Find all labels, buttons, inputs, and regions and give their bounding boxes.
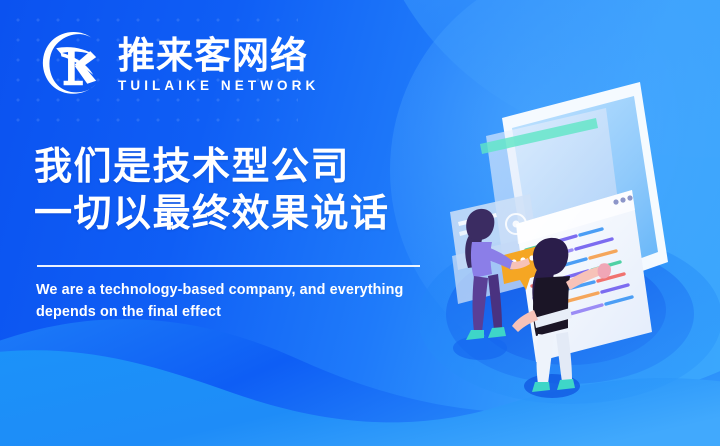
headline-line-1: 我们是技术型公司 [34, 143, 390, 190]
tuilaike-circle-k-logo-icon [34, 26, 108, 100]
isometric-monitor-with-two-people-illustration [420, 56, 720, 406]
subheadline: We are a technology-based company, and e… [36, 279, 456, 323]
headline: 我们是技术型公司 一切以最终效果说话 [34, 143, 390, 237]
brand-name-en: TUILAIKE NETWORK [118, 78, 319, 93]
headline-line-2: 一切以最终效果说话 [34, 190, 390, 237]
brand-name-cn: 推来客网络 [118, 37, 319, 76]
promotional-banner: 推来客网络 TUILAIKE NETWORK 我们是技术型公司 一切以最终效果说… [0, 0, 720, 446]
brand-logo[interactable]: 推来客网络 TUILAIKE NETWORK [34, 26, 319, 100]
headline-divider [37, 265, 420, 267]
brand-logo-text: 推来客网络 TUILAIKE NETWORK [118, 33, 319, 94]
